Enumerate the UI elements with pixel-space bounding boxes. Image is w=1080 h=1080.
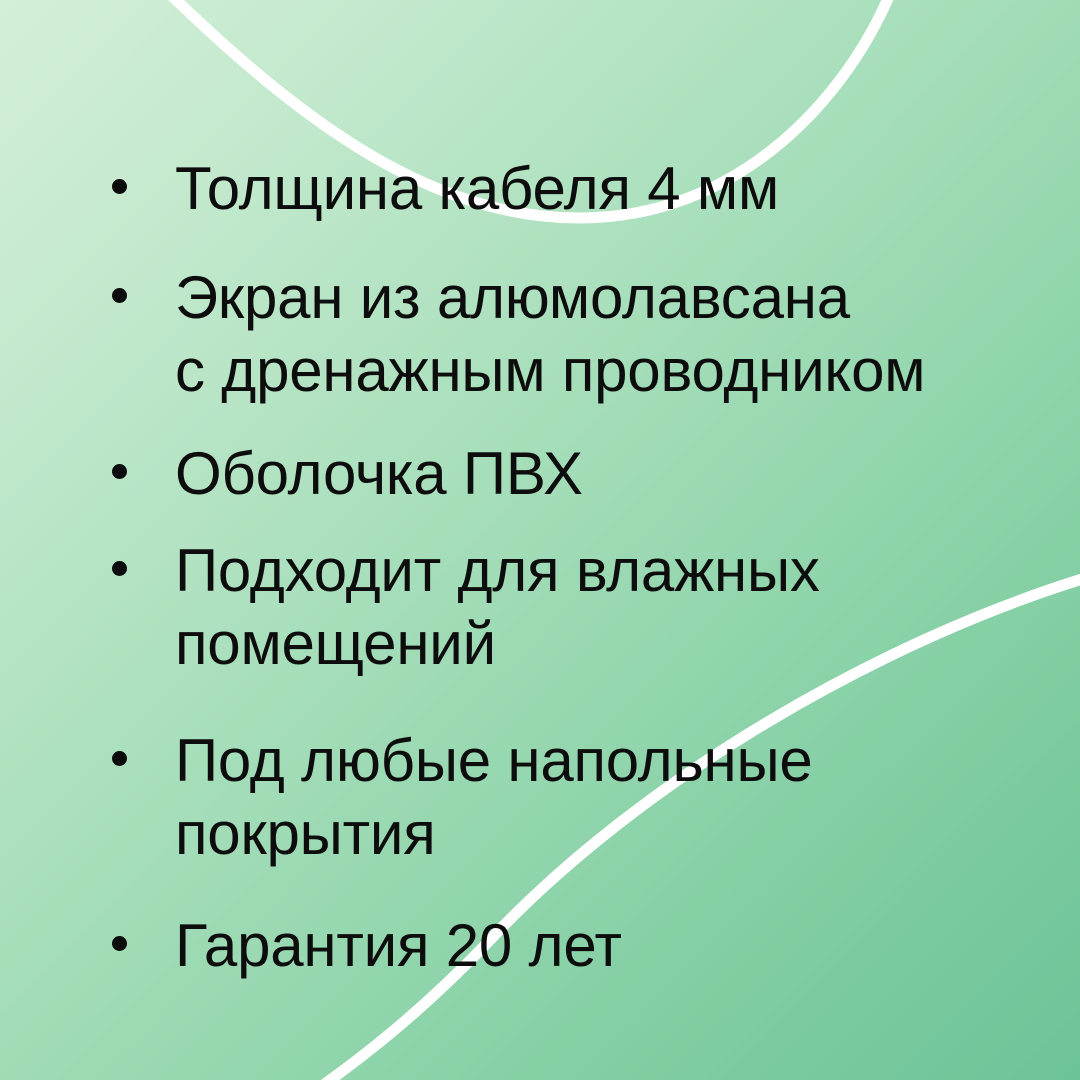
feature-text: Толщина кабеля 4 мм (175, 152, 1052, 225)
feature-text: Подходит для влажных помещений (175, 534, 1052, 680)
list-item: Экран из алюмолавсана с дренажным провод… (112, 261, 1052, 407)
feature-text: Под любые напольные покрытия (175, 724, 1052, 870)
bullet-dot-icon (112, 751, 127, 766)
feature-text: Экран из алюмолавсана с дренажным провод… (175, 261, 1052, 407)
bullet-dot-icon (112, 288, 127, 303)
list-item: Гарантия 20 лет (112, 909, 1052, 982)
bullet-dot-icon (112, 561, 127, 576)
list-item: Под любые напольные покрытия (112, 724, 1052, 870)
list-item: Оболочка ПВХ (112, 437, 1052, 510)
promo-slide: Толщина кабеля 4 мм Экран из алюмолавсан… (0, 0, 1080, 1080)
bullet-dot-icon (112, 464, 127, 479)
feature-text: Гарантия 20 лет (175, 909, 1052, 982)
bullet-dot-icon (112, 936, 127, 951)
list-item: Толщина кабеля 4 мм (112, 152, 1052, 225)
list-item: Подходит для влажных помещений (112, 534, 1052, 680)
feature-bullet-list: Толщина кабеля 4 мм Экран из алюмолавсан… (0, 0, 1080, 1080)
bullet-dot-icon (112, 179, 127, 194)
feature-text: Оболочка ПВХ (175, 437, 1052, 510)
